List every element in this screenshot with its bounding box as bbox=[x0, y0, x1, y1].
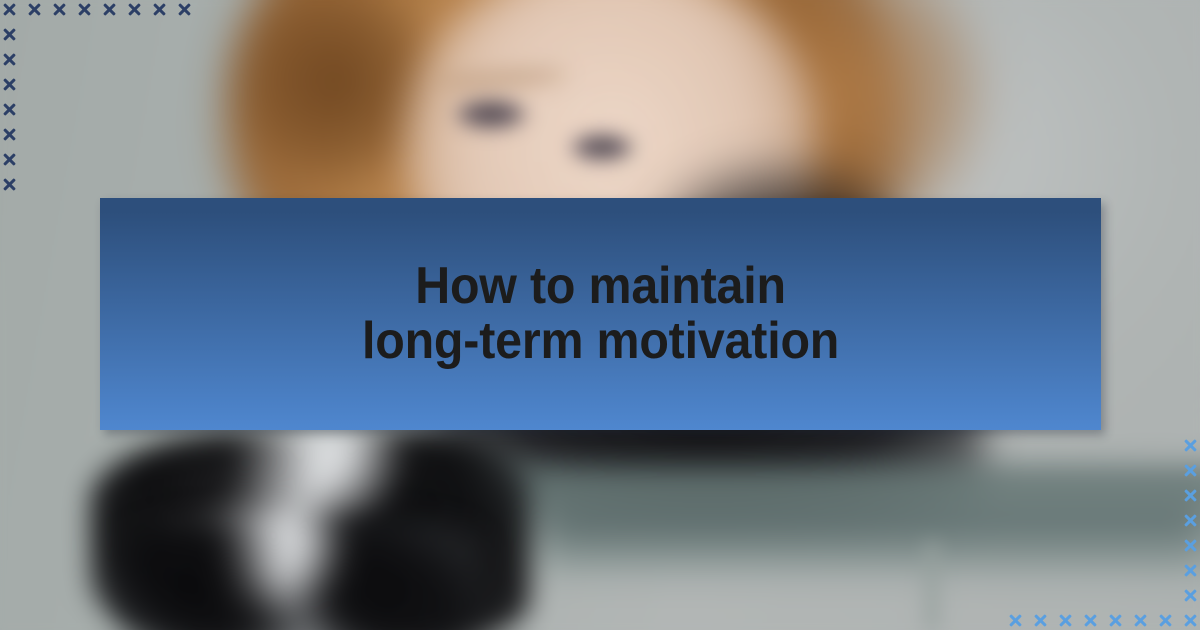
photo-table-leg bbox=[924, 542, 940, 630]
photo-subject-eye-right bbox=[570, 134, 634, 162]
photo-table-edge bbox=[552, 504, 1200, 567]
page-title: How to maintain long-term motivation bbox=[334, 259, 867, 369]
photo-garment-dots-lower bbox=[120, 520, 480, 630]
photo-subject-eye-left bbox=[455, 100, 527, 130]
title-banner: How to maintain long-term motivation bbox=[100, 198, 1101, 430]
article-header-card: How to maintain long-term motivation bbox=[0, 0, 1200, 630]
